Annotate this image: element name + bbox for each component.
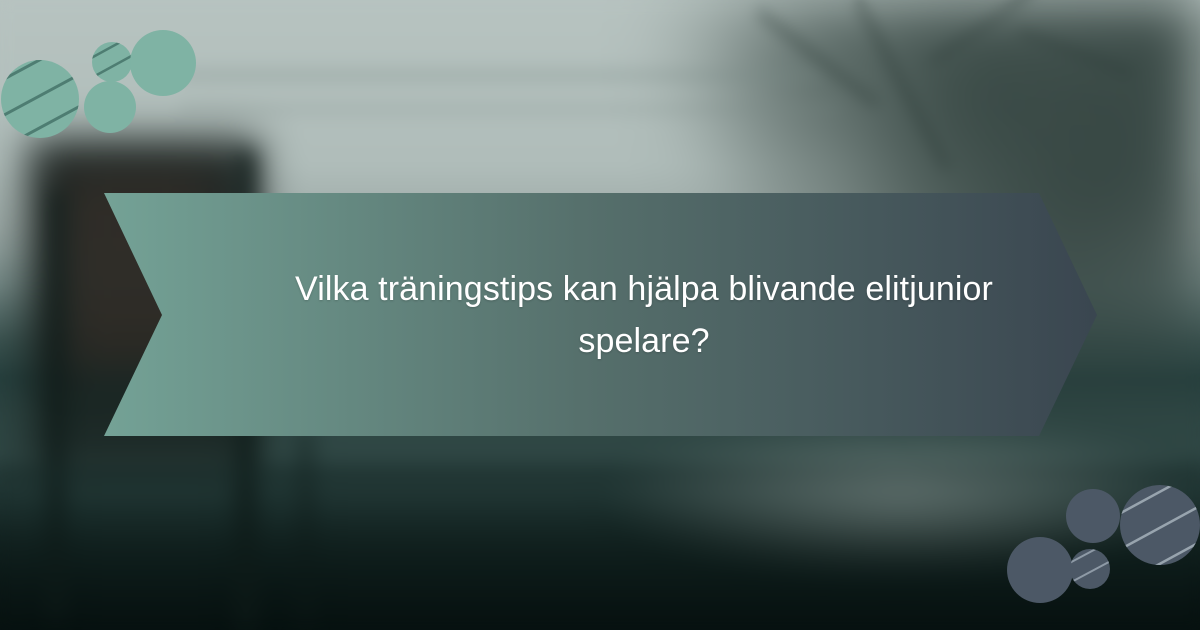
decoration-circles-bottom-right [990, 465, 1200, 630]
plain-circle-large [1007, 537, 1073, 603]
headline-banner: Vilka träningstips kan hjälpa blivande e… [104, 193, 1097, 436]
plain-circle-large [130, 30, 196, 96]
banner-headline-text: Vilka träningstips kan hjälpa blivande e… [264, 193, 1024, 436]
striped-circle-small [1070, 549, 1110, 589]
plain-circle-medium [1066, 489, 1120, 543]
striped-circle-large [1120, 485, 1200, 565]
screenshot-canvas: Vilka träningstips kan hjälpa blivande e… [0, 0, 1200, 630]
plain-circle-small [84, 81, 136, 133]
decoration-circles-top-left [0, 0, 230, 160]
